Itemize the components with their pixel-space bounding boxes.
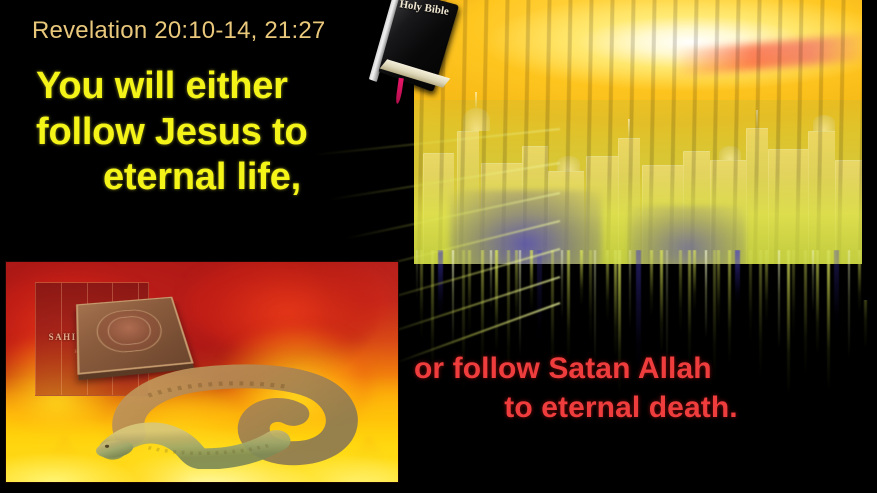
hell-message-line-1: or follow Satan Allah: [410, 349, 872, 388]
heaven-message-line-1: You will either: [36, 64, 396, 110]
light-ray: [614, 250, 617, 359]
light-ray: [705, 250, 707, 349]
heaven-message: You will either follow Jesus to eternal …: [36, 64, 396, 201]
hell-message: or follow Satan Allah to eternal death.: [410, 349, 872, 427]
light-beam: [379, 276, 560, 337]
light-ray: [816, 250, 819, 355]
blue-glow-left: [450, 190, 602, 264]
light-ray: [728, 250, 731, 365]
light-ray: [495, 250, 498, 353]
serpent-illustration: [92, 328, 374, 469]
right-black-margin: [862, 0, 877, 300]
heaven-message-line-2: follow Jesus to: [36, 110, 396, 156]
hellfire-panel: SAHIH MUSLIM Hadith Collection: [6, 262, 398, 482]
light-ray: [660, 250, 663, 354]
heaven-message-line-3: eternal life,: [36, 155, 396, 201]
scripture-reference: Revelation 20:10-14, 21:27: [32, 17, 325, 45]
light-ray: [452, 250, 454, 358]
heavenly-city-panel: [414, 0, 862, 264]
light-ray: [778, 250, 780, 360]
holy-bible-book: Holy Bible: [372, 0, 468, 104]
blue-glow-center: [629, 206, 745, 264]
light-ray: [537, 250, 542, 348]
light-ray: [749, 250, 752, 344]
slide-canvas: SAHIH MUSLIM Hadith Collection: [0, 0, 877, 493]
hell-message-line-2: to eternal death.: [410, 388, 872, 427]
light-ray: [567, 250, 570, 364]
bible-ribbon: [395, 78, 404, 104]
